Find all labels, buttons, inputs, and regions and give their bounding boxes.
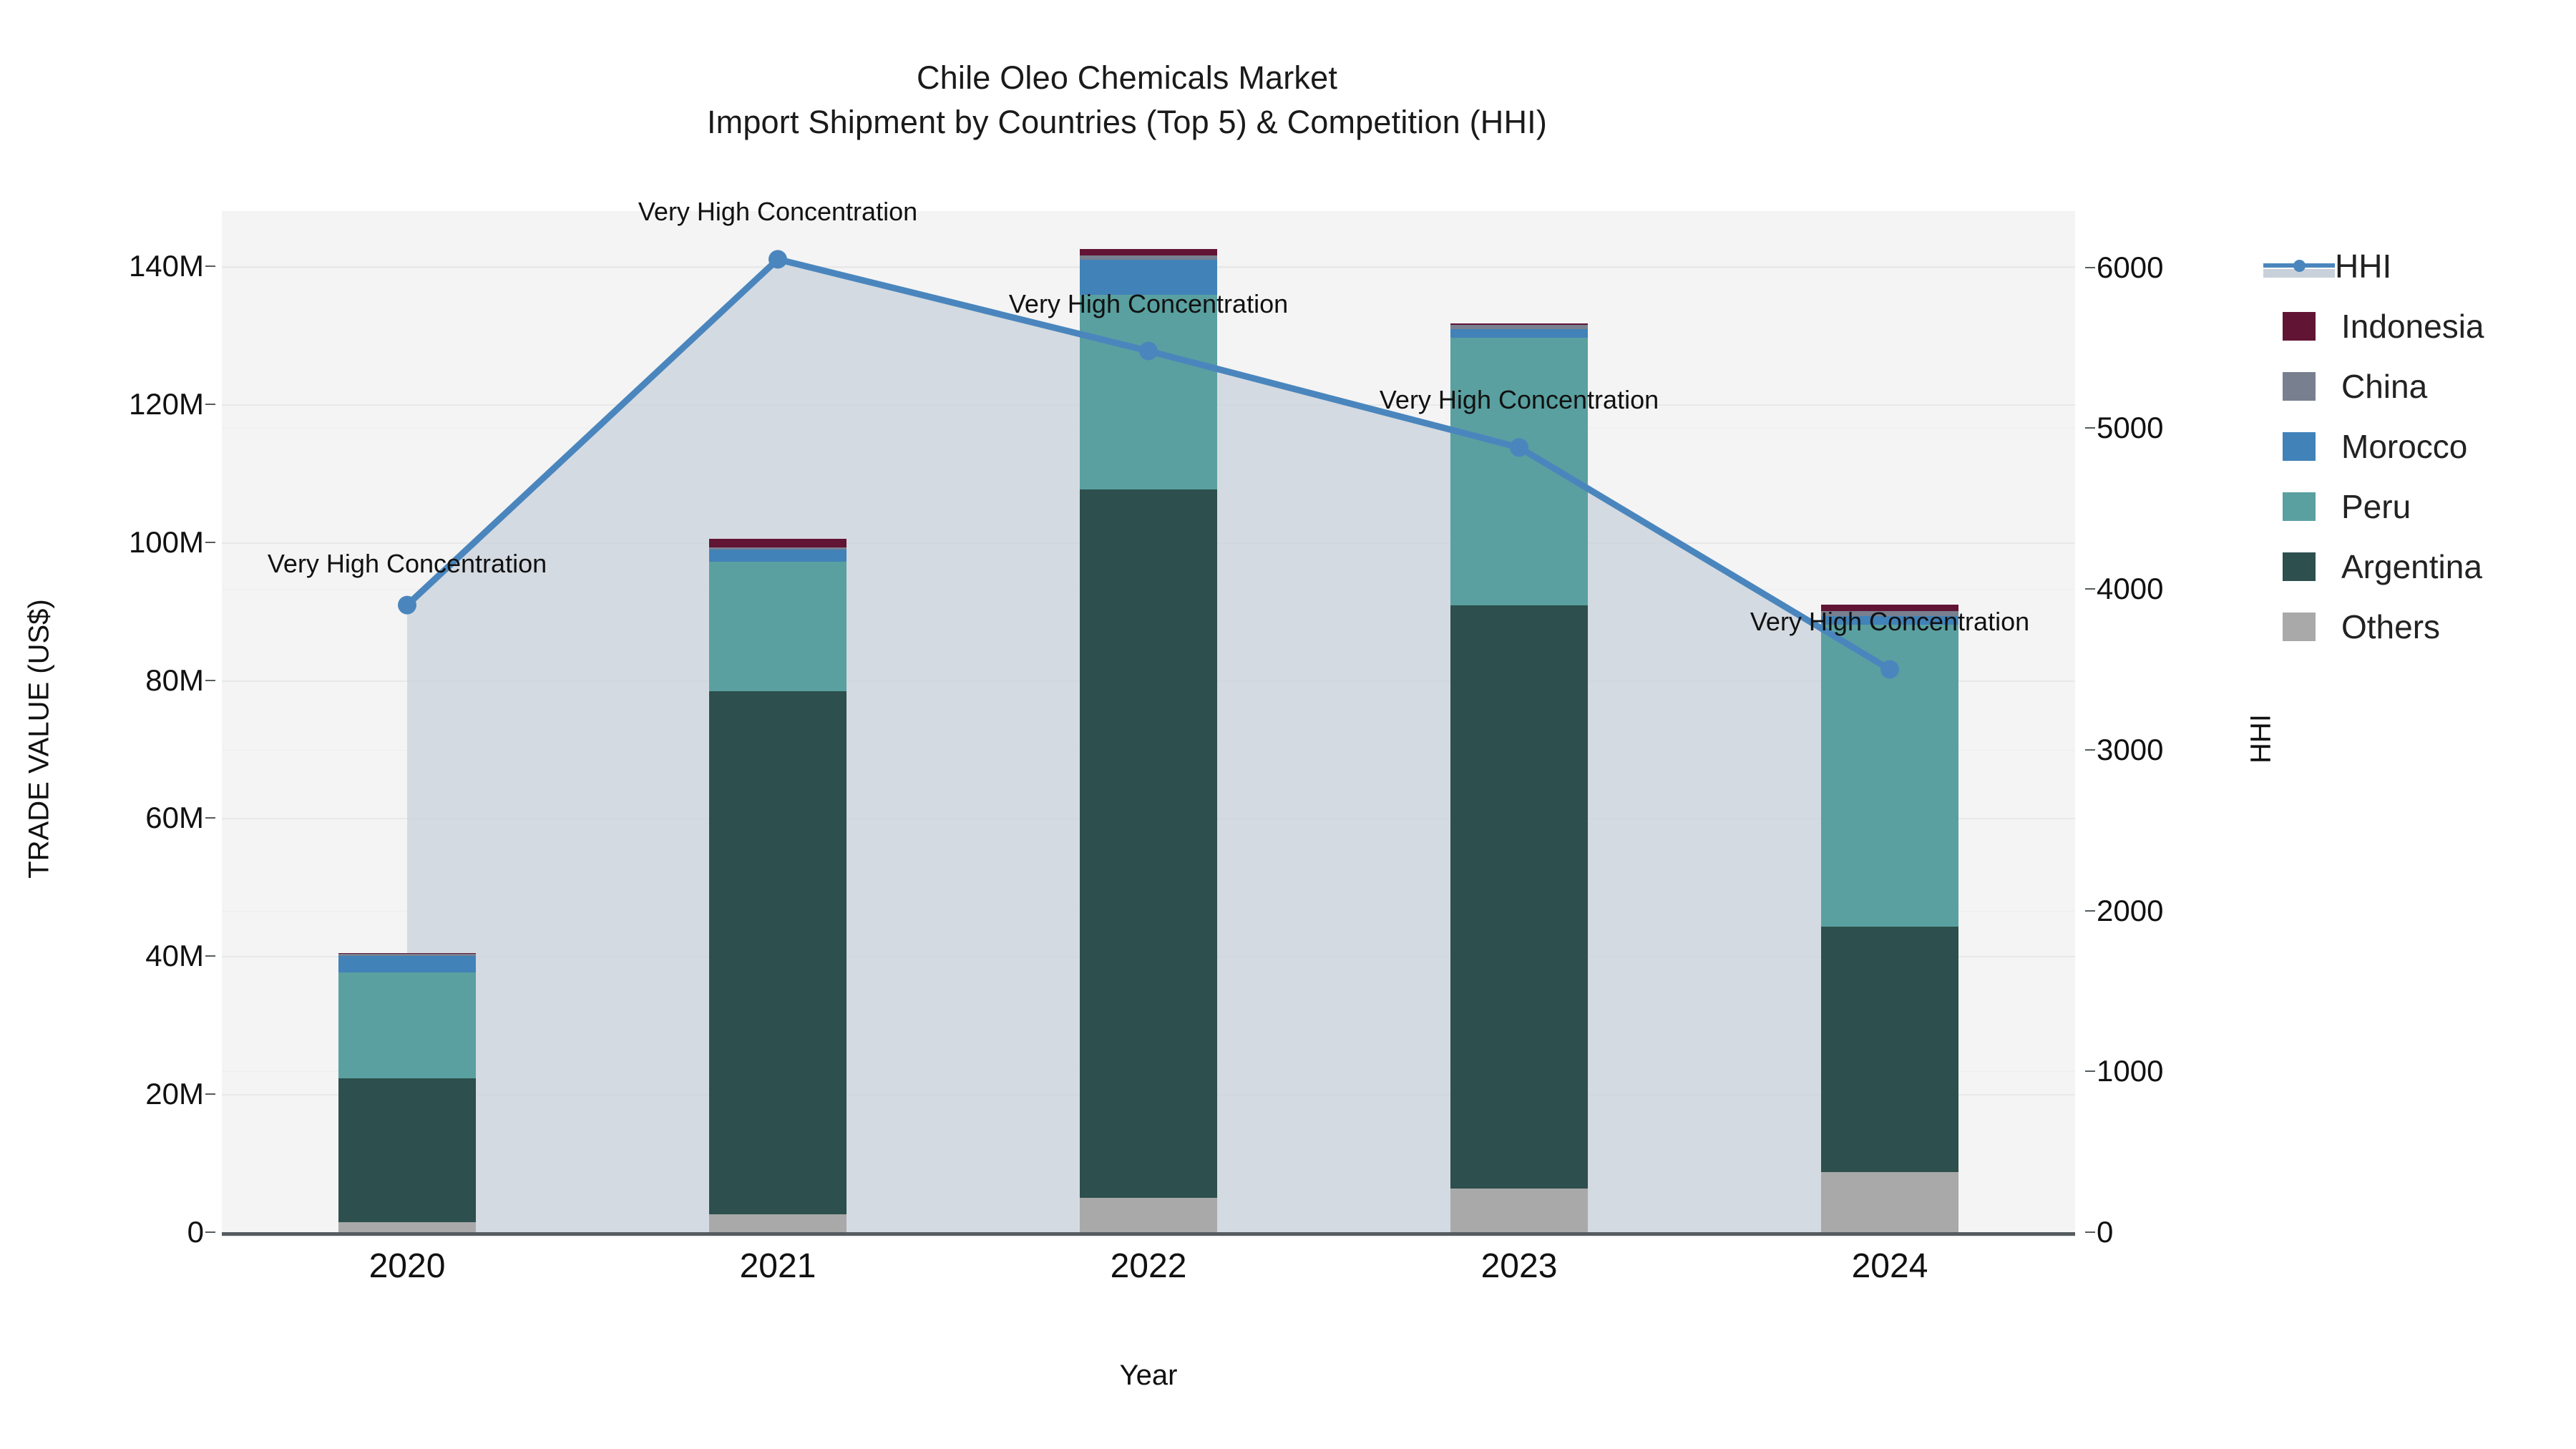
legend-item-others[interactable]: Others	[2283, 597, 2569, 657]
legend-item-argentina[interactable]: Argentina	[2283, 537, 2569, 597]
y-tick-mark-right	[2085, 267, 2095, 268]
x-axis-label: Year	[222, 1360, 2075, 1392]
legend-item-indonesia[interactable]: Indonesia	[2283, 296, 2569, 356]
legend-item-label: HHI	[2335, 247, 2391, 286]
legend-swatch-icon	[2283, 312, 2316, 341]
y-tick-right: 3000	[2097, 733, 2261, 767]
y-tick-left: 60M	[43, 801, 204, 835]
y-tick-mark-right	[2085, 1231, 2095, 1233]
chart-canvas: Chile Oleo Chemicals Market Import Shipm…	[0, 0, 2576, 1449]
legend-line-marker	[2293, 260, 2306, 272]
y-tick-mark-left	[205, 680, 215, 681]
legend-swatch-icon	[2283, 432, 2316, 461]
legend-line-icon	[2263, 252, 2335, 280]
x-tick-label: 2023	[1412, 1246, 1626, 1286]
y-tick-right: 1000	[2097, 1054, 2261, 1088]
x-tick-label: 2022	[1041, 1246, 1256, 1286]
y-tick-right: 0	[2097, 1215, 2261, 1249]
y-tick-left: 100M	[43, 525, 204, 560]
y-tick-mark-left	[205, 1231, 215, 1233]
y-tick-left: 20M	[43, 1077, 204, 1111]
legend-swatch-icon	[2283, 552, 2316, 581]
y-tick-left: 120M	[43, 387, 204, 421]
y-tick-mark-right	[2085, 427, 2095, 429]
legend-swatch-icon	[2283, 372, 2316, 401]
y-tick-mark-left	[205, 404, 215, 405]
legend-item-label: Morocco	[2341, 427, 2467, 466]
y-tick-left: 40M	[43, 939, 204, 973]
axis-ticks: 020M40M60M80M100M120M140M010002000300040…	[0, 0, 2576, 1449]
legend-item-label: Argentina	[2341, 547, 2482, 586]
y-tick-mark-right	[2085, 588, 2095, 590]
y-tick-mark-left	[205, 265, 215, 267]
y-tick-right: 4000	[2097, 572, 2261, 606]
x-tick-label: 2020	[300, 1246, 514, 1286]
legend-item-label: Peru	[2341, 487, 2411, 526]
y-tick-mark-left	[205, 542, 215, 543]
y-axis-label-left: TRADE VALUE (US$)	[24, 553, 56, 925]
y-tick-mark-left	[205, 1093, 215, 1095]
x-tick-label: 2024	[1782, 1246, 1997, 1286]
chart-legend: HHIIndonesiaChinaMoroccoPeruArgentinaOth…	[2283, 236, 2569, 657]
y-tick-mark-left	[205, 955, 215, 957]
y-tick-left: 80M	[43, 663, 204, 698]
y-tick-right: 6000	[2097, 250, 2261, 285]
legend-swatch-icon	[2283, 613, 2316, 641]
x-tick-label: 2021	[670, 1246, 885, 1286]
y-tick-left: 140M	[43, 249, 204, 283]
y-tick-right: 2000	[2097, 894, 2261, 928]
legend-item-peru[interactable]: Peru	[2283, 477, 2569, 537]
y-tick-right: 5000	[2097, 411, 2261, 445]
legend-item-label: Indonesia	[2341, 307, 2484, 346]
legend-item-label: China	[2341, 367, 2427, 406]
legend-item-hhi[interactable]: HHI	[2283, 236, 2569, 296]
y-tick-mark-right	[2085, 1070, 2095, 1072]
legend-item-morocco[interactable]: Morocco	[2283, 416, 2569, 477]
legend-swatch-icon	[2283, 492, 2316, 521]
legend-item-china[interactable]: China	[2283, 356, 2569, 416]
y-tick-mark-left	[205, 817, 215, 819]
legend-item-label: Others	[2341, 608, 2440, 646]
y-tick-left: 0	[43, 1215, 204, 1249]
y-tick-mark-right	[2085, 749, 2095, 751]
y-axis-label-right: HHI	[2245, 632, 2278, 847]
y-tick-mark-right	[2085, 910, 2095, 912]
